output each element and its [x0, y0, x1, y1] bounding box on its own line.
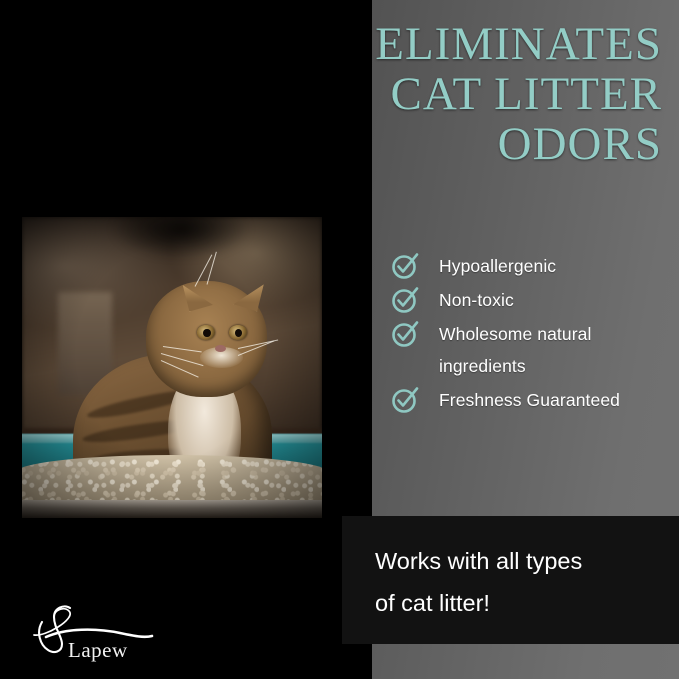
- check-circle-icon: [390, 385, 420, 415]
- headline: ELIMINATES CAT LITTER ODORS: [280, 20, 662, 169]
- photo-vignette: [22, 217, 322, 518]
- headline-line-1: ELIMINATES: [280, 20, 662, 70]
- check-circle-icon: [390, 285, 420, 315]
- product-ad-image: ELIMINATES CAT LITTER ODORS: [0, 0, 679, 679]
- benefit-item: Non-toxic: [390, 284, 670, 316]
- benefits-list: Hypoallergenic Non-toxic Wholesome natur…: [390, 250, 670, 418]
- headline-line-2: CAT LITTER: [280, 70, 662, 120]
- check-circle-icon: [390, 319, 420, 349]
- headline-line-3: ODORS: [280, 120, 662, 170]
- benefit-label: Freshness Guaranteed: [439, 384, 620, 416]
- cat-photo: [22, 217, 322, 518]
- benefit-label: Wholesome natural ingredients: [439, 318, 591, 382]
- check-circle-icon: [390, 251, 420, 281]
- benefit-item: Hypoallergenic: [390, 250, 670, 282]
- brand-name: Lapew: [68, 638, 128, 663]
- benefit-item: Freshness Guaranteed: [390, 384, 670, 416]
- benefit-item: Wholesome natural ingredients: [390, 318, 670, 382]
- callout-panel: Works with all types of cat litter!: [342, 516, 679, 644]
- benefit-label: Non-toxic: [439, 284, 514, 316]
- benefit-label: Hypoallergenic: [439, 250, 556, 282]
- callout-text: Works with all types of cat litter!: [375, 540, 655, 624]
- brand-logo: Lapew: [24, 602, 174, 664]
